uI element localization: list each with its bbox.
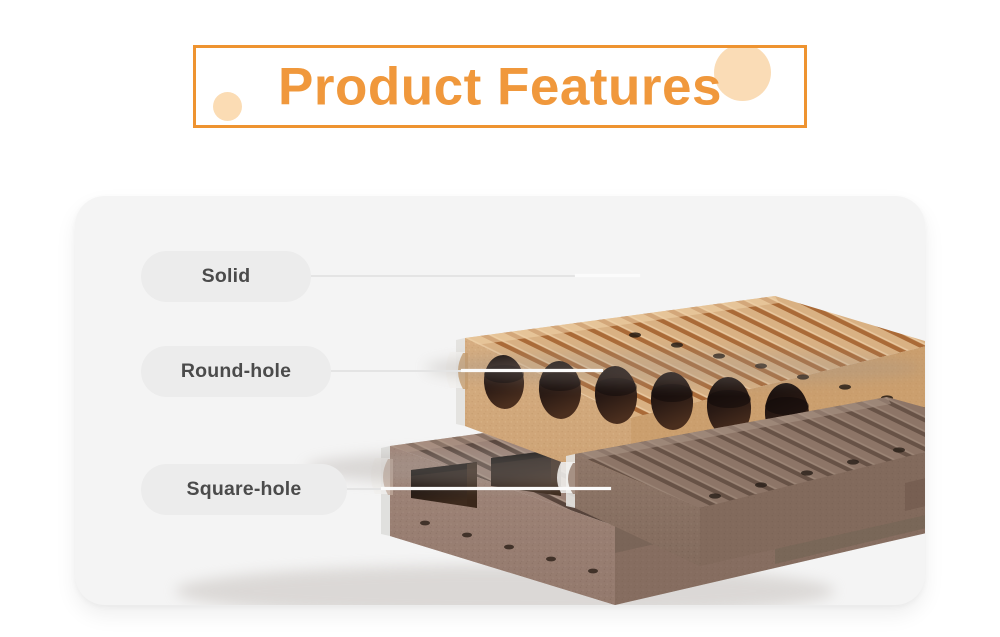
leader-line-square-hole-tip [381,487,611,490]
leader-line-round-hole [323,370,463,372]
label-solid-text: Solid [202,265,251,288]
label-round-hole-text: Round-hole [181,360,291,383]
label-square-hole[interactable]: Square-hole [141,464,347,515]
label-solid[interactable]: Solid [141,251,311,302]
leader-line-solid-tip [575,274,640,277]
leader-line-round-hole-tip [461,369,603,372]
page-title: Product Features [196,60,804,113]
page-title-box: Product Features [193,45,807,128]
product-features-card: Solid Round-hole Square-hole [75,196,925,605]
leader-line-solid [303,275,578,277]
label-square-hole-text: Square-hole [187,478,302,501]
leader-line-square-hole [341,488,383,490]
title-inner-wrap: Product Features [196,48,804,125]
label-round-hole[interactable]: Round-hole [141,346,331,397]
